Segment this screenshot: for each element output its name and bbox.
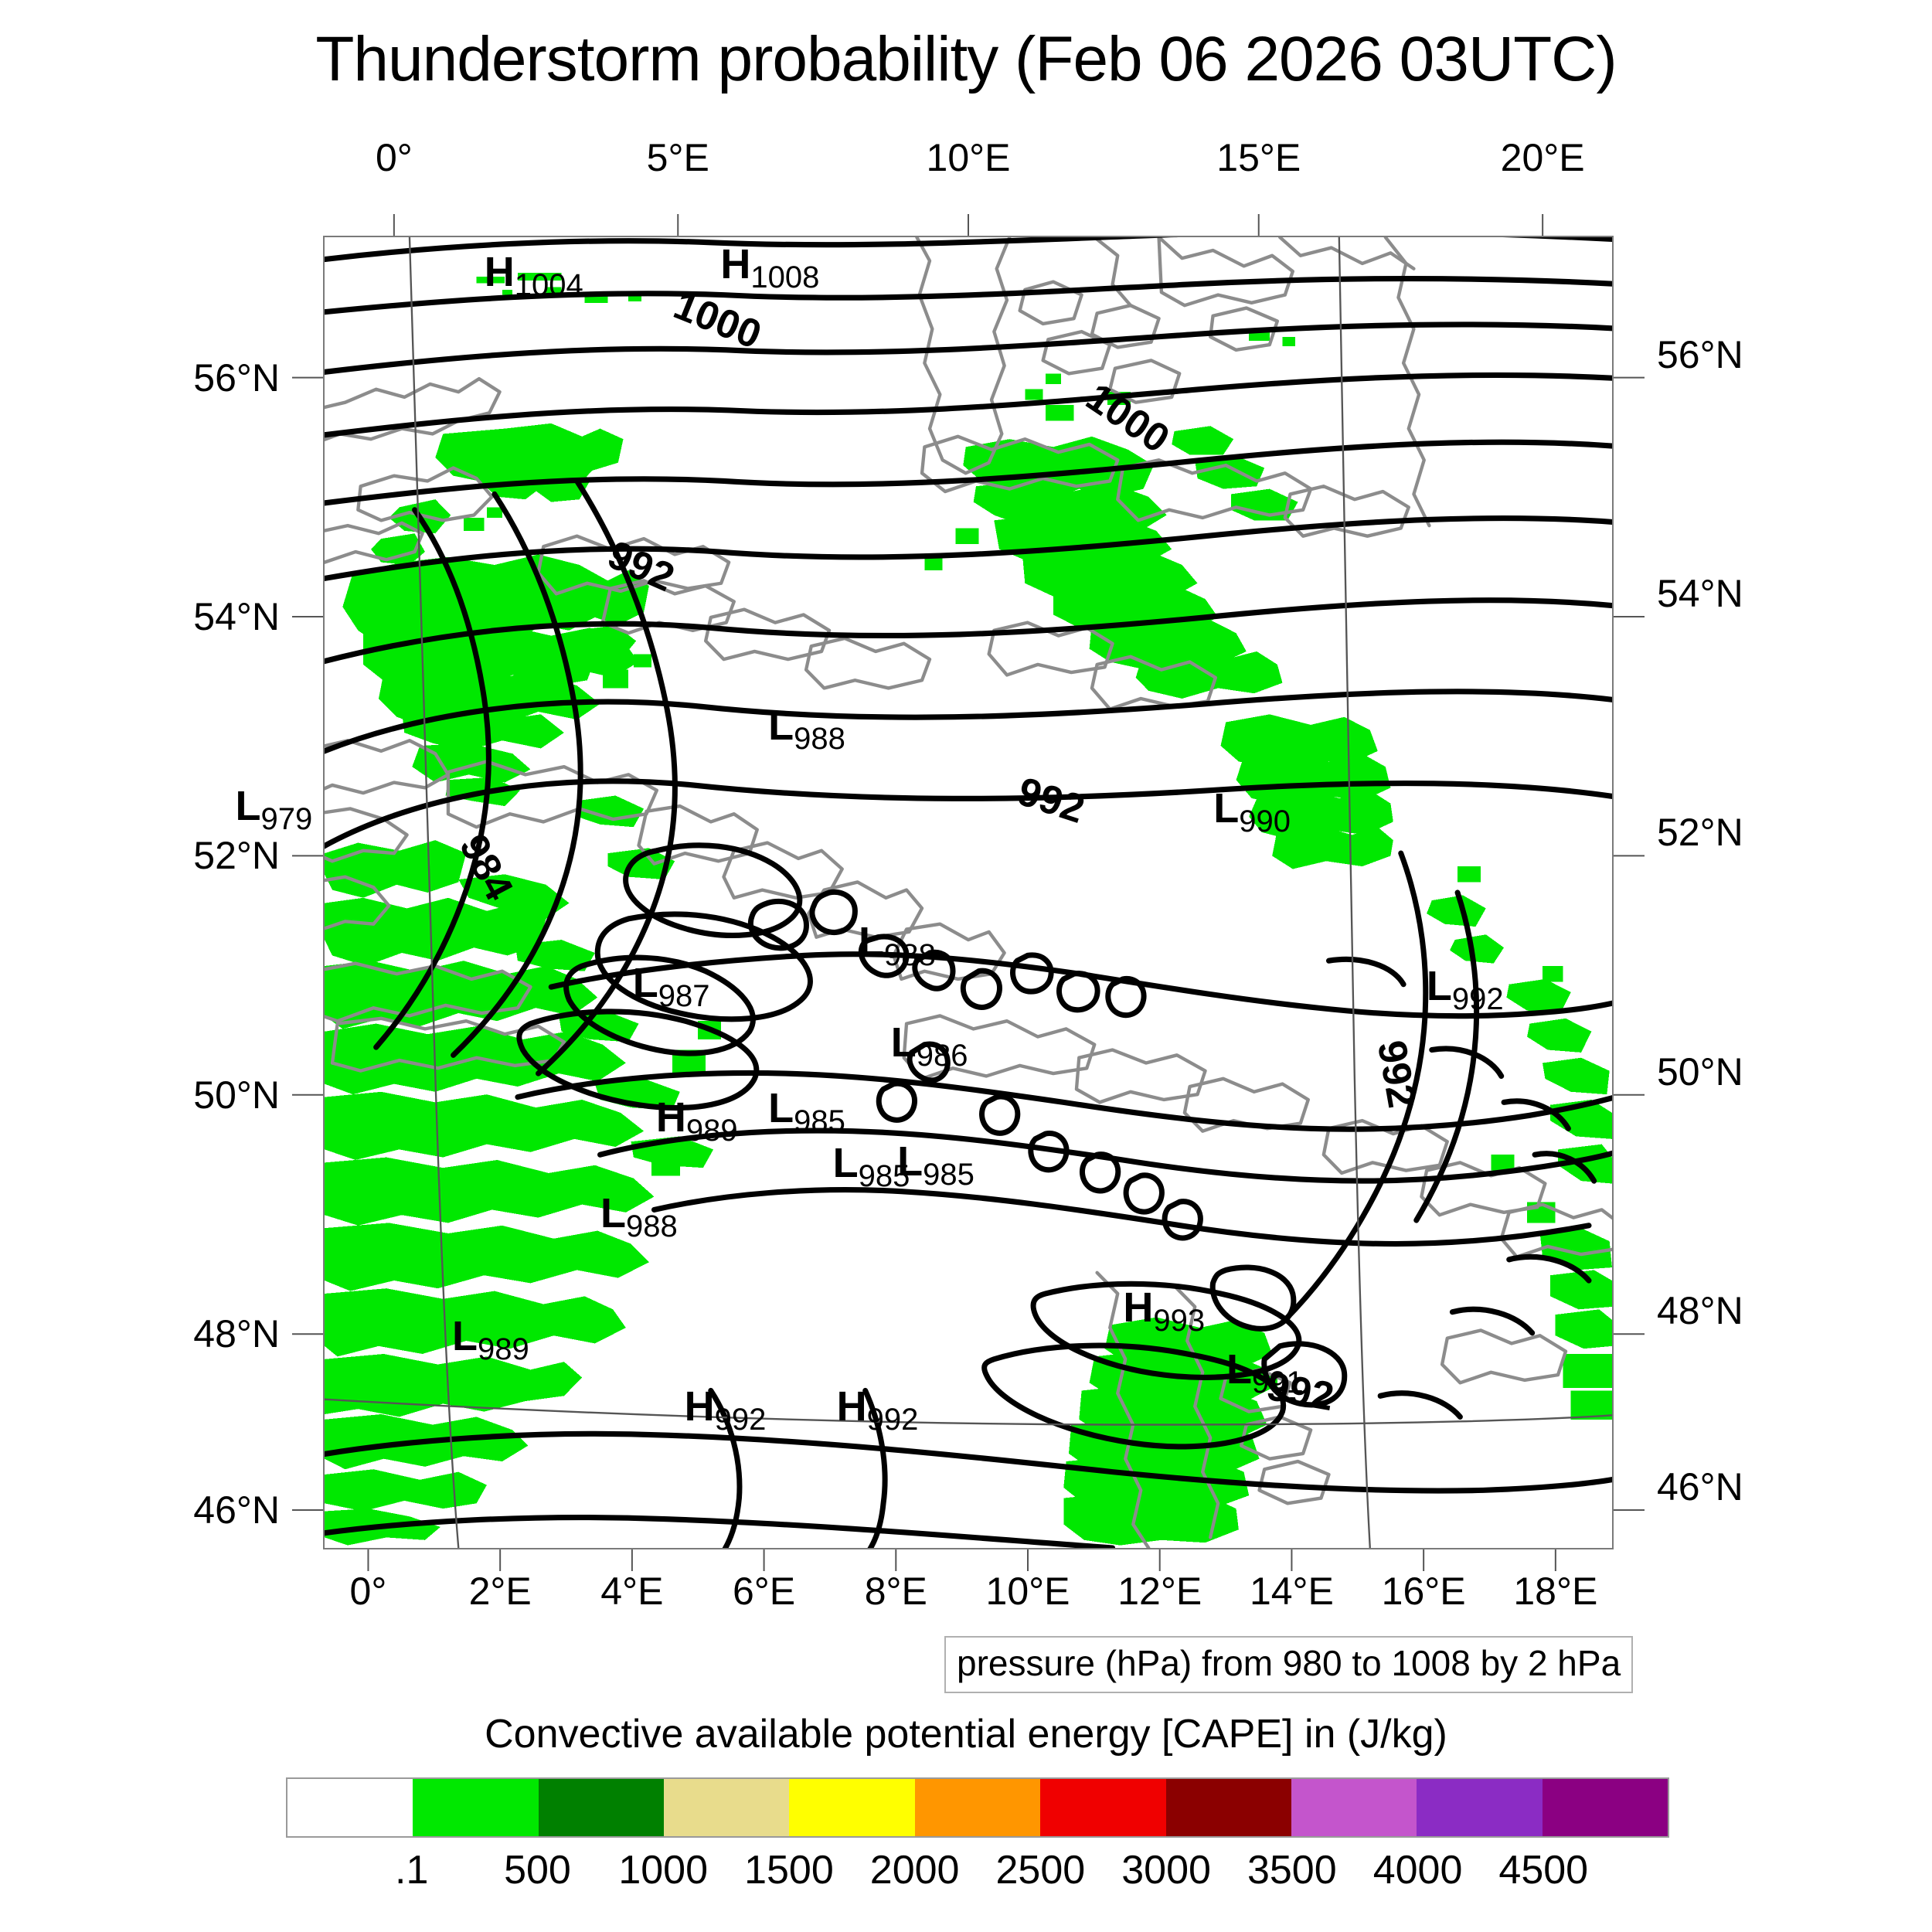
axis-label-left-2: 52°N (193, 833, 280, 878)
colorbar-swatch-10 (1543, 1779, 1668, 1836)
colorbar-tick-3500: 3500 (1247, 1847, 1337, 1893)
axis-label-left-5: 46°N (193, 1488, 280, 1532)
pressure-centre-kind: H (656, 1094, 686, 1141)
axis-label-left-0: 56°N (193, 355, 280, 400)
pressure-centre-l-986-8: L986 (891, 1022, 968, 1063)
pressure-centre-kind: L (1213, 785, 1239, 832)
axis-label-bottom-0: 0° (350, 1569, 387, 1614)
pressure-centre-h-992-17: H992 (685, 1386, 767, 1427)
colorbar (286, 1777, 1669, 1838)
colorbar-tick-.1: .1 (395, 1847, 428, 1893)
colorbar-tick-1000: 1000 (618, 1847, 708, 1893)
pressure-centre-kind: L (859, 919, 884, 965)
pressure-centre-kind: L (1427, 963, 1452, 1009)
pressure-centre-h-993-15: H993 (1123, 1287, 1205, 1328)
colorbar-swatch-8 (1291, 1779, 1417, 1836)
pressure-caption-box: pressure (hPa) from 980 to 1008 by 2 hPa (944, 1636, 1633, 1693)
pressure-centre-kind: H (685, 1383, 715, 1430)
axis-label-bottom-3: 6°E (733, 1569, 795, 1614)
axis-label-top-1: 5°E (647, 135, 709, 180)
pressure-centre-l-988-5: L988 (859, 921, 936, 963)
pressure-centre-value: 992 (715, 1403, 767, 1437)
pressure-centre-kind: H (485, 249, 515, 295)
axis-label-bottom-7: 14°E (1250, 1569, 1334, 1614)
colorbar-tick-500: 500 (504, 1847, 571, 1893)
pressure-centre-l-985-10: L985 (768, 1087, 845, 1129)
axis-label-right-3: 50°N (1657, 1049, 1743, 1094)
pressure-centre-value: 1004 (515, 268, 583, 302)
pressure-centre-value: 986 (917, 1039, 968, 1073)
pressure-centre-kind: L (891, 1019, 917, 1066)
pressure-centre-kind: L (768, 1085, 794, 1131)
colorbar-tick-1500: 1500 (744, 1847, 834, 1893)
pressure-centre-l-992-6: L992 (1427, 965, 1504, 1007)
page-title: Thunderstorm probability (Feb 06 2026 03… (0, 23, 1932, 96)
axis-label-left-4: 48°N (193, 1311, 280, 1356)
colorbar-tick-2500: 2500 (996, 1847, 1086, 1893)
pressure-centre-kind: L (452, 1313, 478, 1359)
colorbar-tick-2000: 2000 (870, 1847, 960, 1893)
pressure-centre-value: 979 (260, 802, 312, 836)
colorbar-swatch-1 (413, 1779, 538, 1836)
axis-label-right-0: 56°N (1657, 332, 1743, 377)
pressure-centre-value: 990 (1239, 804, 1291, 838)
colorbar-tick-4500: 4500 (1498, 1847, 1588, 1893)
pressure-centre-h-1004-0: H1004 (485, 251, 583, 293)
pressure-centre-l-988-3: L988 (768, 705, 845, 747)
pressure-centre-l-979-2: L979 (235, 785, 312, 827)
pressure-centre-value: 987 (658, 979, 710, 1013)
axis-label-bottom-2: 4°E (600, 1569, 663, 1614)
pressure-centre-kind: L (897, 1138, 923, 1185)
pressure-centre-l-985-12: L985 (897, 1141, 975, 1182)
axis-label-bottom-4: 8°E (865, 1569, 927, 1614)
pressure-centre-kind: H (1123, 1284, 1153, 1331)
axis-label-right-1: 54°N (1657, 571, 1743, 616)
pressure-centre-value: 992 (1452, 982, 1504, 1016)
pressure-centre-kind: L (833, 1140, 859, 1186)
pressure-centre-l-991-16: L991 (1226, 1349, 1304, 1390)
pressure-centre-h-989-9: H989 (656, 1097, 738, 1138)
pressure-centre-kind: H (837, 1383, 867, 1430)
pressure-centre-kind: L (1226, 1346, 1252, 1393)
axis-label-bottom-6: 12°E (1117, 1569, 1202, 1614)
pressure-centre-value: 989 (478, 1332, 529, 1366)
colorbar-tick-4000: 4000 (1373, 1847, 1463, 1893)
axis-label-right-2: 52°N (1657, 810, 1743, 855)
pressure-centre-value: 1008 (750, 260, 819, 294)
pressure-centre-value: 993 (1153, 1304, 1205, 1338)
axis-label-bottom-9: 18°E (1513, 1569, 1597, 1614)
pressure-centre-value: 991 (1252, 1366, 1304, 1400)
pressure-centre-value: 989 (686, 1114, 738, 1148)
pressure-caption-text: pressure (hPa) from 980 to 1008 by 2 hPa (957, 1643, 1621, 1683)
pressure-centre-value: 988 (626, 1209, 678, 1243)
pressure-centre-value: 985 (923, 1158, 975, 1192)
axis-label-right-4: 48°N (1657, 1288, 1743, 1333)
axis-label-left-1: 54°N (193, 594, 280, 639)
pressure-centre-value: 988 (884, 938, 936, 972)
colorbar-swatch-6 (1040, 1779, 1165, 1836)
pressure-centre-value: 992 (867, 1403, 919, 1437)
pressure-centre-kind: L (235, 783, 260, 829)
colorbar-swatch-4 (789, 1779, 914, 1836)
pressure-centre-kind: H (720, 241, 750, 287)
cape-caption: Convective available potential energy [C… (0, 1711, 1932, 1757)
pressure-centre-h-1008-1: H1008 (720, 243, 819, 285)
pressure-centre-kind: L (633, 960, 658, 1006)
axis-label-right-5: 46°N (1657, 1464, 1743, 1509)
pressure-centre-kind: L (768, 702, 794, 749)
pressure-centre-h-992-18: H992 (837, 1386, 919, 1427)
pressure-centre-l-989-14: L989 (452, 1315, 529, 1357)
axis-label-bottom-1: 2°E (469, 1569, 532, 1614)
colorbar-tick-labels: .150010001500200025003000350040004500 (286, 1847, 1669, 1901)
axis-label-top-4: 20°E (1501, 135, 1585, 180)
axis-label-top-3: 15°E (1216, 135, 1301, 180)
colorbar-swatch-0 (287, 1779, 413, 1836)
pressure-centre-kind: L (600, 1190, 626, 1236)
colorbar-swatch-2 (539, 1779, 664, 1836)
axis-label-top-0: 0° (376, 135, 413, 180)
pressure-centre-value: 988 (794, 722, 845, 756)
axis-label-top-2: 10°E (927, 135, 1011, 180)
axis-label-bottom-8: 16°E (1382, 1569, 1466, 1614)
colorbar-swatch-7 (1166, 1779, 1291, 1836)
colorbar-swatch-3 (664, 1779, 789, 1836)
axis-label-bottom-5: 10°E (986, 1569, 1070, 1614)
map-panel: 10001000992992984992992 H1004H1008L979L9… (323, 236, 1614, 1549)
pressure-centre-l-990-4: L990 (1213, 787, 1291, 829)
axis-label-left-3: 50°N (193, 1073, 280, 1117)
colorbar-swatches (286, 1777, 1669, 1838)
pressure-centre-l-987-7: L987 (633, 962, 710, 1004)
pressure-centre-value: 985 (794, 1104, 845, 1138)
colorbar-tick-3000: 3000 (1121, 1847, 1211, 1893)
colorbar-swatch-5 (915, 1779, 1040, 1836)
pressure-centre-l-988-13: L988 (600, 1192, 678, 1234)
colorbar-swatch-9 (1417, 1779, 1542, 1836)
